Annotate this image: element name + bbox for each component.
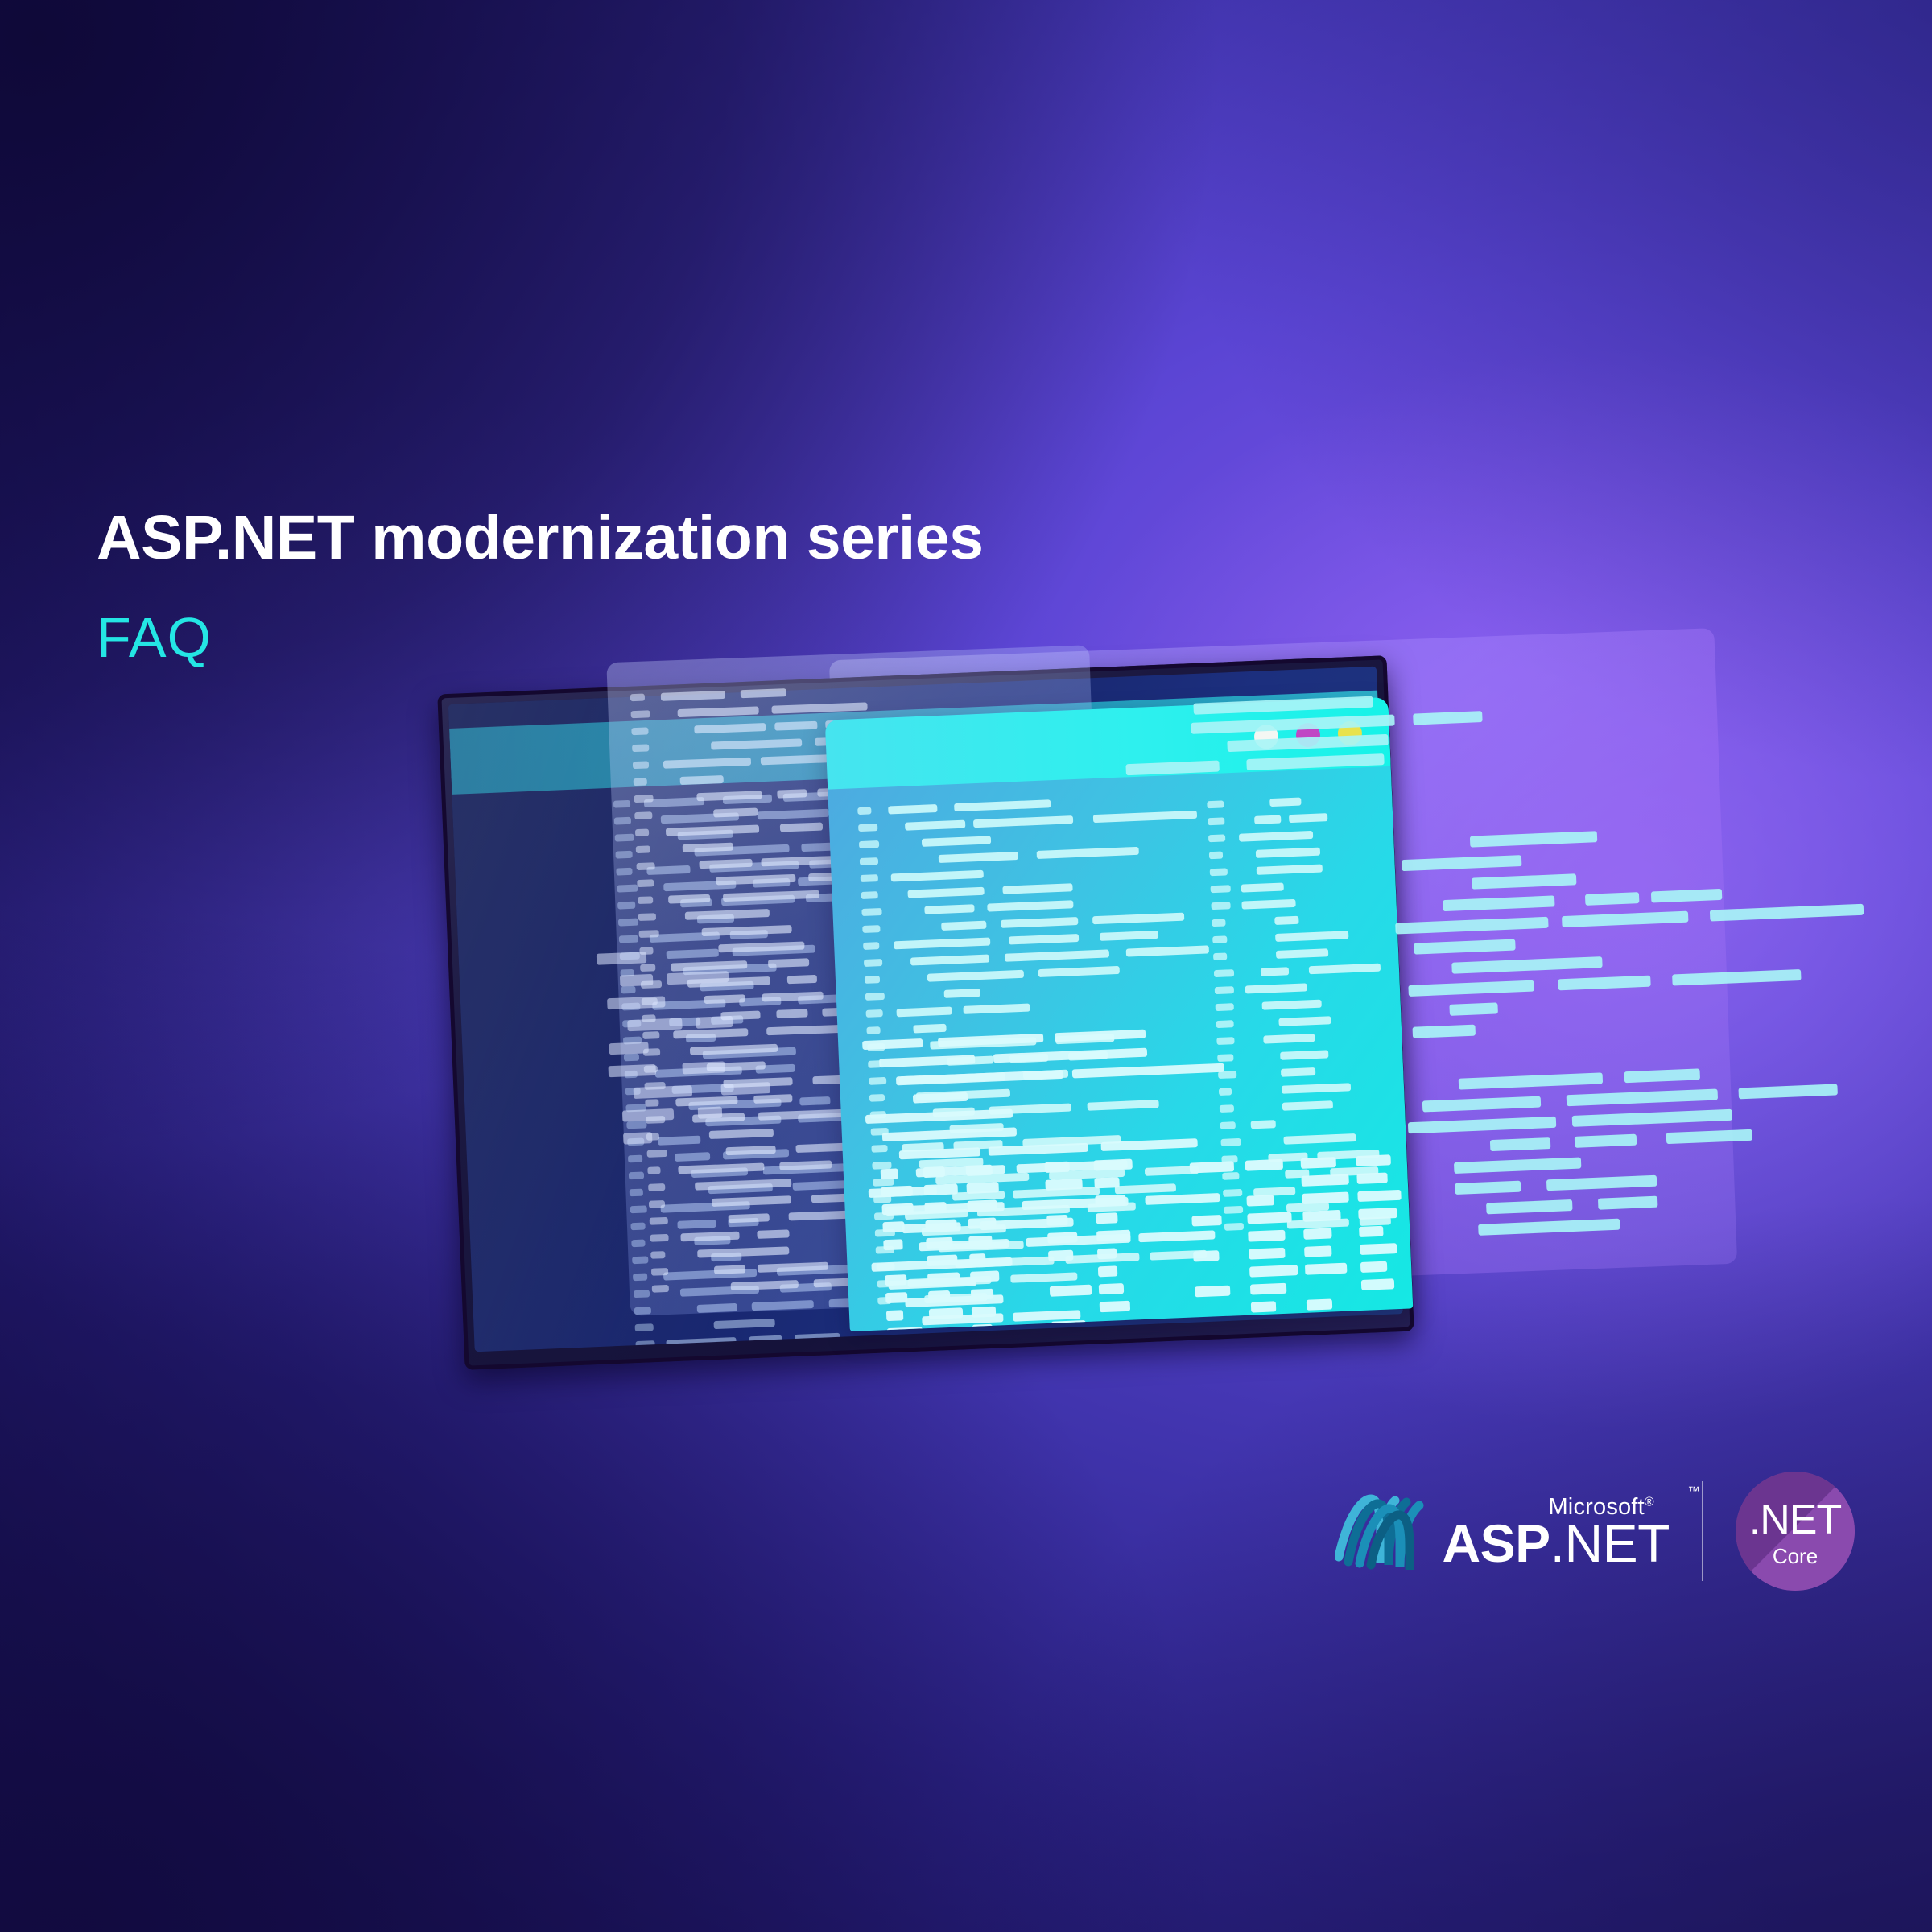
logo-row: Microsoft® ™ ASP .NET .NET Core	[1335, 1472, 1855, 1591]
poster-canvas: ASP.NET modernization series FAQ Microso…	[0, 0, 1932, 1932]
dotnet-core-secondary: Core	[1773, 1546, 1818, 1567]
hero-illustration	[0, 0, 1932, 1932]
headline-block: ASP.NET modernization series FAQ	[97, 506, 983, 666]
page-subtitle: FAQ	[97, 609, 983, 666]
aspnet-wordmark: Microsoft® ™ ASP .NET	[1442, 1496, 1670, 1570]
dotnet-core-badge: .NET Core	[1736, 1472, 1855, 1591]
code-stream-left	[592, 946, 793, 1163]
aspnet-swoosh-icon	[1335, 1492, 1429, 1570]
registered-mark: ®	[1645, 1495, 1654, 1509]
cyan-code-window	[825, 697, 1414, 1331]
dotnet-core-primary: .NET	[1749, 1499, 1841, 1541]
page-title: ASP.NET modernization series	[97, 506, 983, 571]
code-stream-right	[1389, 819, 1896, 1048]
trademark-mark: ™	[1687, 1484, 1699, 1498]
aspnet-logo: Microsoft® ™ ASP .NET	[1335, 1492, 1670, 1570]
code-stream-lower	[1397, 1060, 1903, 1257]
logo-divider	[1702, 1481, 1703, 1581]
microsoft-label: Microsoft®	[1548, 1494, 1653, 1521]
aspnet-word-light: .NET	[1550, 1517, 1670, 1570]
aspnet-word-bold: ASP	[1442, 1517, 1550, 1570]
